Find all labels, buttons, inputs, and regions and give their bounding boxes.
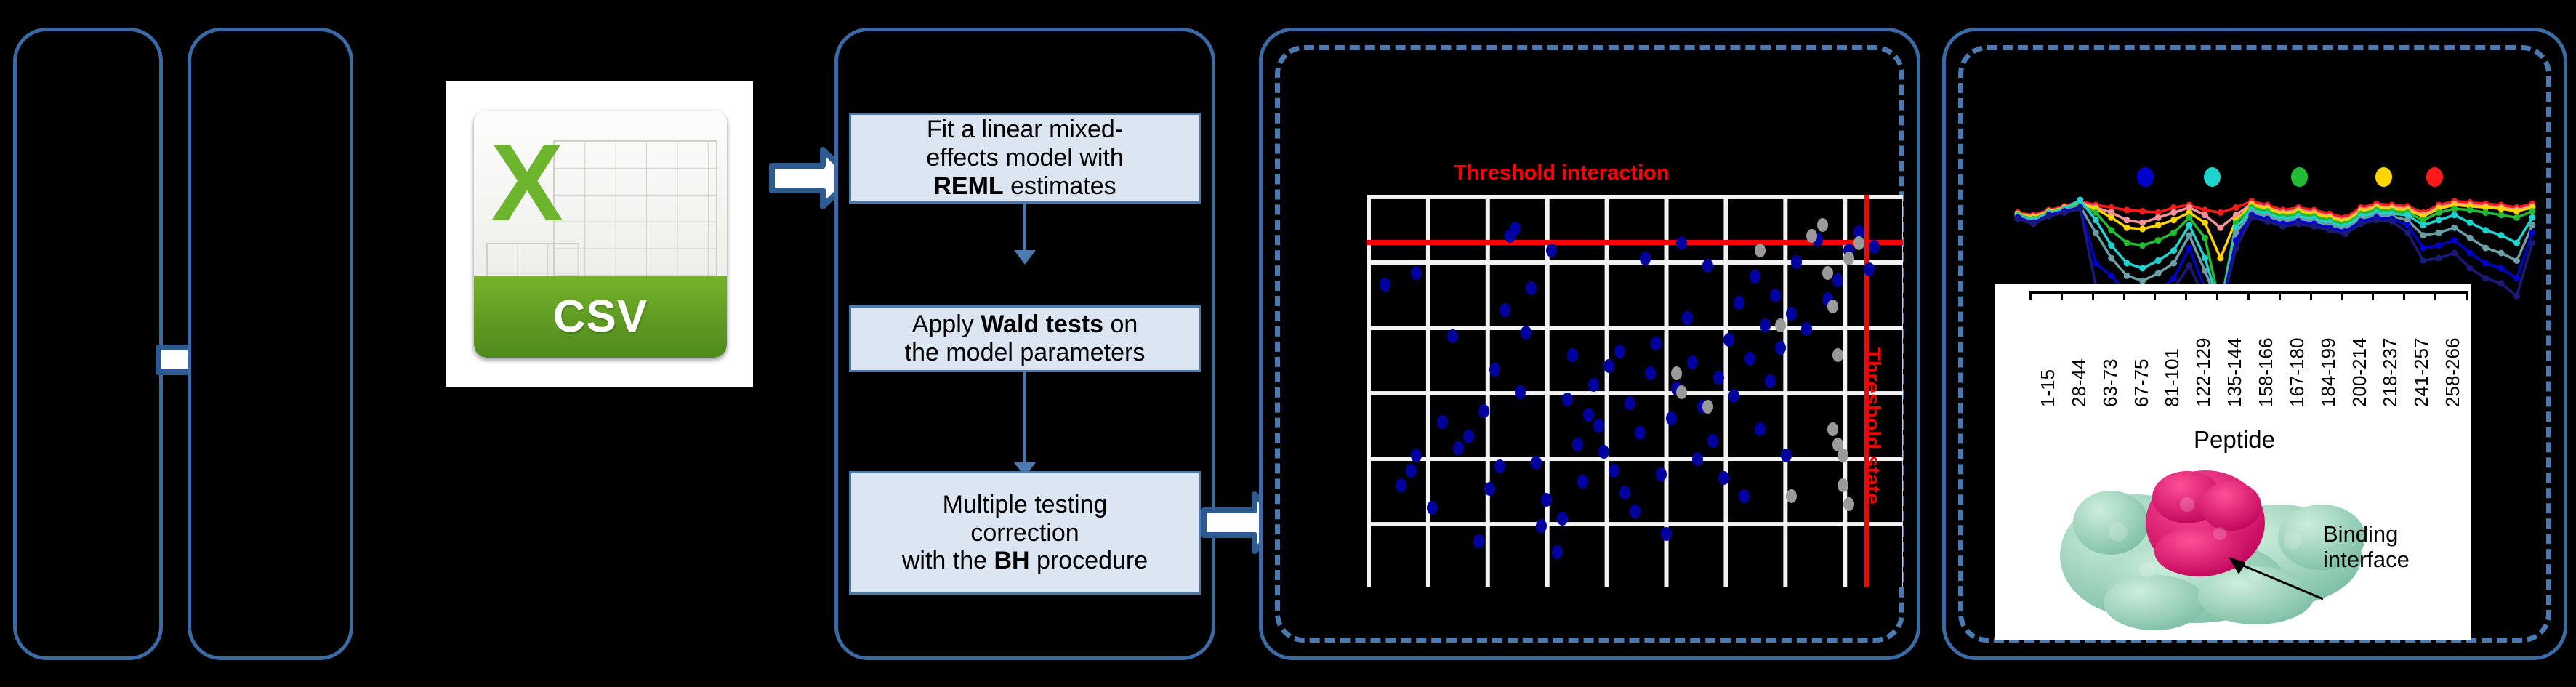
volcano-point-significant	[1864, 262, 1875, 276]
line-marker-steel	[2186, 232, 2193, 238]
line-marker-green	[2155, 237, 2162, 244]
volcano-point-significant	[1801, 322, 1812, 336]
volcano-point-nonsignificant	[1817, 218, 1828, 232]
volcano-point-significant	[1832, 273, 1843, 287]
peptide-axis-title: Peptide	[2154, 426, 2314, 454]
volcano-point-significant	[1562, 393, 1573, 406]
volcano-point-significant	[1791, 255, 1802, 269]
step-reml-box[interactable]: Fit a linear mixed- effects model with R…	[849, 113, 1201, 204]
line-marker-cyan	[2436, 217, 2442, 223]
volcano-point-significant	[1707, 434, 1718, 448]
line-marker-cyan	[2202, 255, 2208, 262]
volcano-point-significant	[1380, 278, 1390, 292]
line-marker-salmon	[2202, 212, 2208, 218]
volcano-point-significant	[1702, 259, 1713, 273]
volcano-point-significant	[1765, 374, 1776, 388]
line-marker-steel	[2529, 222, 2536, 228]
line-marker-steel	[2467, 235, 2474, 241]
volcano-point-significant	[1521, 326, 1531, 340]
volcano-point-significant	[1666, 411, 1677, 425]
volcano-point-nonsignificant	[1832, 348, 1843, 362]
step-bh-line1: Multiple testing	[943, 491, 1108, 518]
volcano-point-significant	[1713, 371, 1724, 385]
peptide-tick-label: 158-166	[2255, 338, 2277, 407]
line-marker-blue	[2482, 260, 2489, 267]
volcano-point-significant	[1546, 244, 1557, 257]
line-marker-green	[2482, 209, 2489, 216]
volcano-point-significant	[1598, 445, 1609, 459]
line-marker-blue	[2467, 250, 2474, 257]
volcano-point-significant	[1687, 355, 1698, 369]
volcano-point-significant	[1750, 270, 1760, 284]
line-marker-cyan	[2108, 242, 2114, 249]
peptide-tick-label: 67-75	[2130, 359, 2153, 408]
line-marker-green	[2498, 212, 2505, 218]
peptide-tick-label: 63-73	[2099, 359, 2122, 408]
line-marker-green	[2436, 209, 2442, 216]
line-marker-steel	[2420, 232, 2426, 238]
step-wald-pre: Apply	[912, 310, 981, 338]
line-marker-blue	[2170, 275, 2177, 281]
line-marker-salmon	[2124, 217, 2130, 223]
line-marker-yellow	[2155, 222, 2162, 228]
volcano-point-significant	[1494, 459, 1505, 473]
volcano-point-nonsignificant	[1702, 400, 1713, 414]
volcano-point-significant	[1603, 359, 1614, 373]
peptide-tick-label: 258-266	[2442, 338, 2464, 407]
step-bh-line3b: procedure	[1030, 547, 1148, 574]
peptide-tick-label: 167-180	[2286, 338, 2309, 407]
peptide-tick-label: 81-101	[2161, 348, 2183, 407]
volcano-point-nonsignificant	[1775, 318, 1786, 332]
volcano-point-significant	[1536, 519, 1547, 533]
volcano-point-significant	[1500, 303, 1510, 317]
volcano-point-significant	[1640, 252, 1651, 265]
volcano-point-nonsignificant	[1671, 366, 1682, 380]
line-marker-red	[2139, 208, 2146, 214]
line-marker-yellow	[2217, 255, 2223, 262]
csv-extension-band: CSV	[474, 276, 727, 358]
volcano-point-significant	[1739, 489, 1750, 503]
volcano-point-nonsignificant	[1827, 422, 1838, 436]
line-marker-cyan	[2482, 227, 2489, 233]
volcano-point-significant	[1463, 430, 1474, 443]
line-marker-steel	[2093, 230, 2099, 236]
line-marker-blue	[2093, 260, 2099, 267]
step-bh-text: Multiple testing correction with the BH …	[898, 491, 1152, 575]
line-marker-cyan	[2155, 257, 2162, 264]
line-marker-blue	[2420, 245, 2426, 252]
line-marker-yellow	[2124, 225, 2130, 231]
volcano-plot-area	[1367, 195, 1903, 587]
step-reml-line3: estimates	[1004, 172, 1116, 200]
line-marker-cyan	[2467, 220, 2474, 226]
volcano-point-nonsignificant	[1786, 489, 1797, 503]
line-marker-cyan	[2170, 247, 2177, 254]
line-marker-steel	[2513, 257, 2520, 264]
line-marker-navy	[2420, 257, 2426, 264]
line-marker-blue	[2186, 245, 2193, 252]
line-marker-navy	[2248, 214, 2255, 221]
line-marker-cyan	[2139, 265, 2146, 271]
volcano-point-nonsignificant	[1843, 252, 1854, 265]
line-marker-blue	[2513, 275, 2520, 281]
volcano-point-significant	[1734, 296, 1744, 310]
volcano-point-nonsignificant	[1838, 478, 1848, 492]
line-marker-navy	[2404, 230, 2411, 236]
volcano-point-significant	[1760, 318, 1771, 332]
line-marker-yellow	[2498, 206, 2505, 212]
line-marker-navy	[2529, 240, 2536, 246]
line-marker-cyan	[2498, 232, 2505, 238]
step-reml-text: Fit a linear mixed- effects model with R…	[922, 116, 1128, 200]
peptide-tick-label: 28-44	[2068, 359, 2090, 408]
binding-interface-annotation: Binding interface	[2323, 522, 2410, 572]
volcano-point-significant	[1614, 345, 1625, 358]
peptide-tick-label: 218-237	[2379, 338, 2402, 407]
line-marker-salmon	[2217, 225, 2223, 231]
results-axis-card: 1-1528-4463-7367-7581-101122-129135-1441…	[1995, 284, 2471, 640]
line-marker-cyan	[2529, 214, 2536, 221]
peptide-tick-label: 184-199	[2317, 338, 2340, 407]
line-marker-green	[2186, 214, 2193, 221]
step-reml-line1: Fit a linear mixed-	[927, 116, 1123, 143]
line-marker-yellow	[2139, 226, 2146, 233]
csv-panel	[188, 28, 353, 660]
csv-icon: X CSV	[474, 111, 727, 358]
line-marker-blue	[2108, 273, 2114, 279]
connector-wald-bh	[1023, 372, 1026, 464]
line-marker-navy	[2295, 221, 2302, 228]
step-wald-bold: Wald tests	[981, 310, 1103, 338]
volcano-point-significant	[1588, 378, 1599, 392]
line-marker-navy	[2436, 255, 2442, 262]
line-marker-salmon	[2170, 209, 2177, 216]
line-marker-blue	[2529, 230, 2536, 236]
line-marker-navy	[2061, 209, 2068, 216]
step-bh-box[interactable]: Multiple testing correction with the BH …	[849, 471, 1201, 595]
volcano-point-significant	[1473, 534, 1484, 548]
line-marker-yellow	[2202, 220, 2208, 226]
volcano-point-nonsignificant	[1822, 266, 1833, 280]
volcano-point-significant	[1651, 337, 1662, 350]
volcano-point-significant	[1775, 341, 1786, 355]
volcano-point-significant	[1645, 366, 1656, 380]
line-marker-navy	[2388, 218, 2395, 225]
volcano-point-significant	[1411, 266, 1422, 280]
volcano-point-significant	[1526, 281, 1537, 295]
csv-extension-label: CSV	[553, 291, 648, 342]
line-marker-steel	[2451, 225, 2458, 231]
volcano-point-significant	[1515, 385, 1526, 399]
volcano-point-significant	[1577, 475, 1588, 489]
csv-file-thumbnail: X CSV	[446, 81, 753, 387]
line-marker-navy	[2077, 206, 2083, 212]
connector-reml-wald	[1023, 204, 1026, 252]
connector-reml-wald-arrowhead	[1014, 250, 1036, 265]
line-marker-navy	[2358, 221, 2364, 228]
volcano-point-significant	[1583, 408, 1594, 422]
line-marker-navy	[2264, 218, 2271, 225]
volcano-point-significant	[1661, 527, 1672, 541]
line-marker-navy	[2467, 265, 2474, 271]
step-wald-box[interactable]: Apply Wald tests on the model parameters	[849, 305, 1201, 372]
volcano-point-nonsignificant	[1755, 244, 1766, 257]
line-marker-steel	[2436, 230, 2442, 236]
line-marker-cyan	[2513, 240, 2520, 246]
peptide-tick-label: 241-257	[2410, 338, 2433, 407]
volcano-point-nonsignificant	[1827, 300, 1838, 313]
volcano-point-significant	[1510, 222, 1521, 236]
line-marker-navy	[2311, 223, 2317, 230]
volcano-point-significant	[1406, 464, 1417, 478]
volcano-point-cloud	[1367, 195, 1903, 587]
line-marker-steel	[2155, 270, 2162, 276]
volcano-point-significant	[1728, 389, 1739, 403]
step-reml-line2: effects model with	[926, 144, 1124, 172]
volcano-point-significant	[1489, 363, 1500, 377]
volcano-point-significant	[1567, 348, 1578, 362]
step-reml-bold: REML	[933, 172, 1003, 200]
line-marker-salmon	[2139, 220, 2146, 226]
line-marker-steel	[2498, 250, 2505, 257]
volcano-point-significant	[1781, 449, 1792, 462]
line-marker-red	[2233, 204, 2239, 211]
volcano-point-significant	[1572, 438, 1583, 451]
line-marker-red	[2124, 206, 2130, 213]
volcano-point-significant	[1453, 441, 1464, 455]
line-marker-navy	[2342, 230, 2348, 237]
line-marker-cyan	[2451, 212, 2458, 218]
line-marker-cyan	[2124, 260, 2130, 267]
step-bh-bold: BH	[994, 547, 1029, 574]
volcano-point-significant	[1411, 449, 1422, 462]
step-bh-line3a: with the	[902, 547, 994, 574]
line-marker-steel	[2202, 268, 2208, 274]
volcano-point-significant	[1552, 545, 1563, 559]
volcano-point-nonsignificant	[1676, 385, 1687, 399]
line-marker-cyan	[2186, 222, 2193, 228]
line-marker-navy	[2030, 221, 2037, 228]
line-marker-green	[2202, 235, 2208, 241]
volcano-point-significant	[1541, 493, 1552, 507]
line-marker-green	[2467, 206, 2474, 213]
volcano-point-significant	[1869, 240, 1880, 254]
volcano-point-significant	[1630, 505, 1641, 518]
step-wald-text: Apply Wald tests on the model parameters	[901, 310, 1150, 367]
volcano-point-significant	[1531, 456, 1542, 470]
line-marker-green	[2513, 214, 2520, 221]
volcano-point-significant	[1755, 422, 1766, 436]
volcano-point-significant	[1593, 419, 1604, 433]
line-marker-red	[2217, 209, 2223, 216]
line-marker-blue	[2404, 222, 2411, 228]
excel-x-icon: X	[481, 121, 572, 244]
volcano-point-significant	[1718, 471, 1729, 485]
volcano-point-significant	[1656, 467, 1667, 481]
volcano-threshold-state-label: Threshold state	[1860, 347, 1884, 505]
binding-interface-line2: interface	[2323, 547, 2410, 573]
line-marker-navy	[2186, 262, 2193, 269]
line-marker-green	[2529, 208, 2536, 214]
volcano-point-significant	[1484, 482, 1495, 496]
volcano-point-significant	[1682, 311, 1693, 325]
peptide-tick-label: 200-214	[2348, 338, 2371, 407]
line-marker-steel	[2108, 255, 2114, 262]
volcano-point-significant	[1557, 512, 1568, 526]
volcano-point-significant	[1635, 426, 1646, 440]
line-marker-navy	[2373, 217, 2380, 223]
peptide-tick-label: 122-129	[2192, 338, 2215, 407]
volcano-point-significant	[1427, 501, 1438, 515]
line-marker-green	[2093, 209, 2099, 216]
step-bh-line2: correction	[970, 519, 1079, 547]
volcano-point-significant	[1396, 478, 1406, 492]
peptide-tick-label: 1-15	[2037, 369, 2059, 407]
volcano-point-significant	[1447, 329, 1458, 343]
line-marker-green	[2451, 206, 2458, 212]
volcano-point-significant	[1676, 236, 1687, 250]
line-marker-salmon	[2155, 214, 2162, 221]
line-marker-navy	[2233, 245, 2239, 252]
line-marker-yellow	[2513, 208, 2520, 214]
volcano-point-significant	[1770, 289, 1781, 302]
line-marker-green	[2124, 240, 2130, 246]
volcano-point-nonsignificant	[1853, 236, 1864, 250]
volcano-point-significant	[1478, 404, 1489, 418]
peptide-tick-label: 135-144	[2223, 338, 2246, 407]
line-marker-navy	[2045, 213, 2052, 220]
input-panel	[13, 28, 163, 660]
line-marker-steel	[2124, 273, 2130, 279]
line-marker-navy	[2513, 293, 2520, 300]
line-marker-green	[2108, 227, 2114, 233]
line-marker-navy	[2279, 223, 2286, 230]
line-marker-blue	[2436, 242, 2442, 249]
volcano-point-significant	[1609, 464, 1619, 478]
line-marker-cyan	[2420, 222, 2426, 228]
line-marker-navy	[2327, 227, 2333, 233]
peptide-axis-tick-labels: 1-1528-4463-7367-7581-101122-129135-1441…	[1995, 284, 2471, 429]
line-marker-yellow	[2170, 217, 2177, 223]
volcano-point-significant	[1692, 452, 1703, 466]
line-marker-navy	[2482, 275, 2489, 281]
line-marker-blue	[2498, 265, 2505, 271]
volcano-threshold-interaction-label: Threshold interaction	[1454, 161, 1669, 185]
volcano-point-significant	[1744, 352, 1755, 366]
binding-interface-line1: Binding	[2323, 522, 2410, 547]
volcano-point-significant	[1786, 307, 1797, 321]
volcano-point-nonsignificant	[1843, 497, 1854, 511]
line-marker-green	[2139, 242, 2146, 249]
line-marker-navy	[2015, 216, 2021, 222]
volcano-point-nonsignificant	[1838, 449, 1848, 462]
line-marker-navy	[2451, 250, 2458, 257]
line-marker-blue	[2451, 237, 2458, 244]
line-marker-navy	[2498, 280, 2505, 286]
line-marker-yellow	[2108, 214, 2114, 221]
line-marker-cyan	[2077, 197, 2083, 204]
volcano-point-significant	[1625, 396, 1635, 410]
volcano-point-significant	[1619, 486, 1630, 499]
line-marker-cyan	[2093, 217, 2099, 223]
step-wald-line2: the model parameters	[905, 339, 1146, 366]
line-marker-steel	[2482, 245, 2489, 252]
step-wald-post: on	[1103, 310, 1138, 338]
volcano-point-significant	[1437, 415, 1448, 429]
line-marker-green	[2170, 230, 2177, 236]
line-marker-steel	[2170, 260, 2177, 267]
volcano-point-significant	[1723, 333, 1734, 347]
